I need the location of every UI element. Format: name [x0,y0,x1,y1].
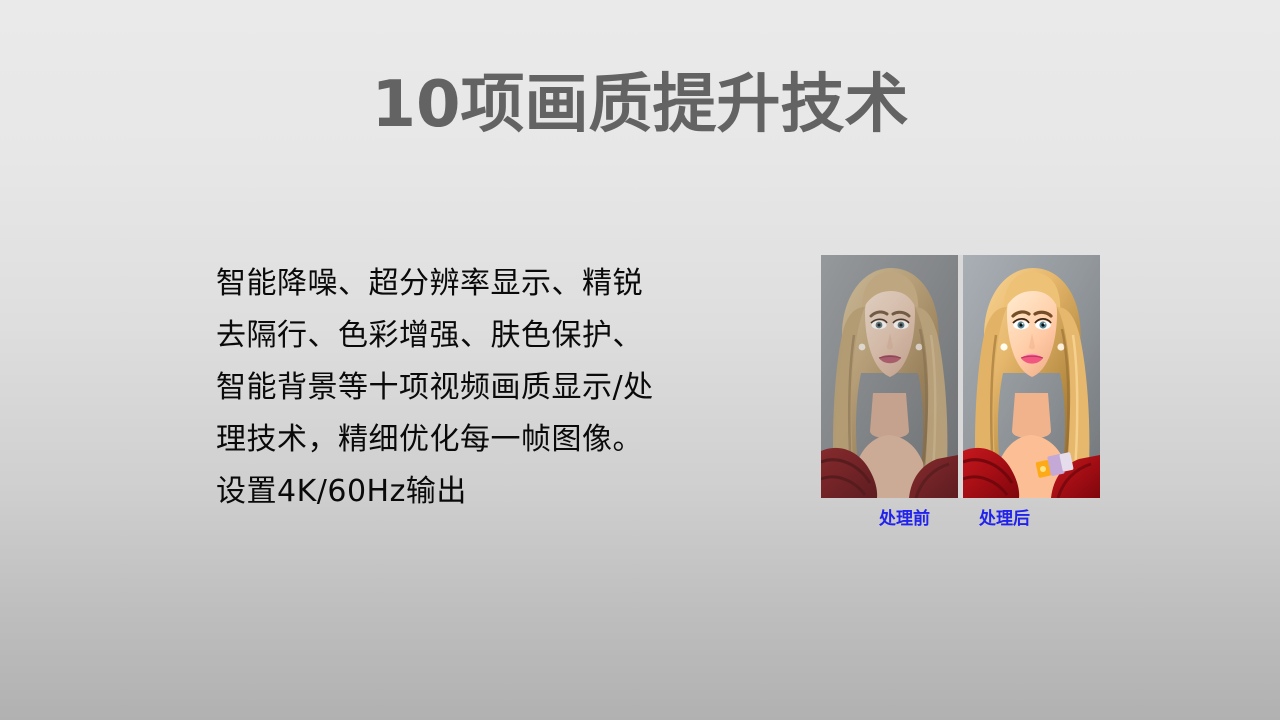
body-line: 理技术，精细优化每一帧图像。 [216,414,736,466]
portrait-image-after [963,255,1100,498]
slide-canvas: 10项画质提升技术 智能降噪、超分辨率显示、精锐 去隔行、色彩增强、肤色保护、 … [0,0,1280,720]
caption-row: 处理前 处理后 [821,508,1100,548]
page-title: 10项画质提升技术 [0,66,1280,144]
portrait-photo-after [963,255,1100,498]
body-line: 去隔行、色彩增强、肤色保护、 [216,310,736,362]
body-line: 智能背景等十项视频画质显示/处 [216,362,736,414]
body-line: 设置4K/60Hz输出 [216,466,736,518]
comparison-figure: 处理前 处理后 [821,255,1100,548]
caption-after: 处理后 [979,508,1030,530]
portrait-image-before [821,255,958,498]
photo-pair [821,255,1100,498]
body-text-block: 智能降噪、超分辨率显示、精锐 去隔行、色彩增强、肤色保护、 智能背景等十项视频画… [216,258,736,518]
caption-before: 处理前 [879,508,930,530]
body-line: 智能降噪、超分辨率显示、精锐 [216,258,736,310]
portrait-photo-before [821,255,958,498]
